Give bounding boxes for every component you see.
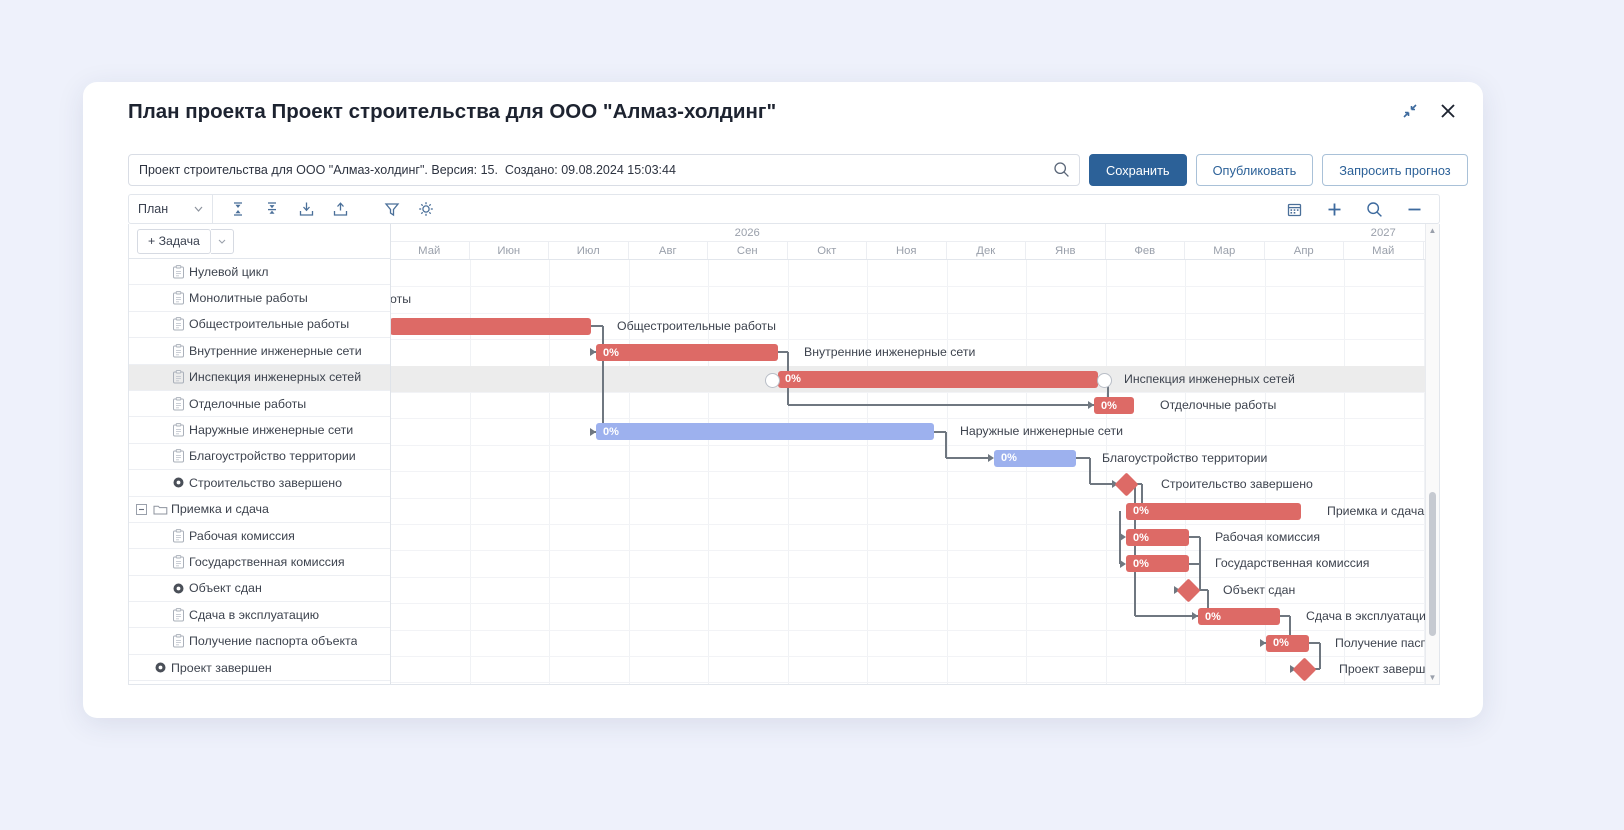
task-icon <box>167 344 189 358</box>
task-row[interactable]: Приемка и сдача <box>129 497 390 523</box>
grid-hline <box>390 682 1439 683</box>
task-rows: Нулевой циклМонолитные работыОбщестроите… <box>129 259 390 681</box>
grid-hline <box>390 471 1439 472</box>
timeline-body[interactable]: отыОбщестроительные работы0%Внутренние и… <box>390 260 1439 684</box>
task-icon <box>167 317 189 331</box>
expand-all-icon[interactable] <box>259 196 285 222</box>
view-select-value: План <box>138 202 168 216</box>
bar-label: Благоустройство территории <box>1102 451 1267 465</box>
page-title: План проекта Проект строительства для ОО… <box>128 100 776 124</box>
toolbar-right-icon-group <box>1281 196 1439 222</box>
task-row[interactable]: Рабочая комиссия <box>129 523 390 549</box>
bar-progress-label: 0% <box>778 373 801 385</box>
timeline-month: Мар <box>1185 242 1265 259</box>
dependency-link <box>1076 457 1090 459</box>
view-select[interactable]: План <box>129 195 213 223</box>
bar-drag-handle-left[interactable] <box>765 373 780 388</box>
gantt-grid: + Задача Нулевой циклМонолитные работыОб… <box>128 224 1440 685</box>
task-icon <box>167 370 189 384</box>
grid-hline <box>390 603 1439 604</box>
gantt-bar[interactable]: 0% <box>1126 555 1189 572</box>
task-row[interactable]: Строительство завершено <box>129 470 390 496</box>
modal-header: План проекта Проект строительства для ОО… <box>83 82 1483 148</box>
dependency-link <box>1090 483 1112 485</box>
settings-gear-icon[interactable] <box>413 196 439 222</box>
add-task-bar: + Задача <box>129 224 390 259</box>
grid-hline <box>390 286 1439 287</box>
milestone-marker[interactable] <box>1292 657 1316 681</box>
timeline-year-header: 20262027 <box>390 224 1439 242</box>
task-row[interactable]: Инспекция инженерных сетей <box>129 365 390 391</box>
timeline-year: 2026 <box>390 224 1106 241</box>
dependency-link <box>1135 615 1192 617</box>
task-row[interactable]: Объект сдан <box>129 576 390 602</box>
gantt-bar[interactable]: 0% <box>994 450 1076 467</box>
gantt-bar[interactable]: 0% <box>596 344 778 361</box>
timeline-month: Авг <box>629 242 709 259</box>
grid-hline <box>390 498 1439 499</box>
task-icon <box>167 608 189 622</box>
scrollbar-thumb[interactable] <box>1429 492 1436 636</box>
task-row[interactable]: Государственная комиссия <box>129 549 390 575</box>
bar-progress-label: 0% <box>994 452 1017 464</box>
bar-progress-label: 0% <box>1126 532 1149 544</box>
grid-hline <box>390 656 1439 657</box>
search-input[interactable] <box>129 157 1079 183</box>
grid-hline <box>390 445 1439 446</box>
timeline-month: Июл <box>549 242 629 259</box>
gantt-bar[interactable]: 0% <box>596 423 934 440</box>
grid-hline <box>390 339 1439 340</box>
publish-button[interactable]: Опубликовать <box>1196 154 1314 186</box>
collapse-diagonal-icon[interactable] <box>1399 100 1421 122</box>
timeline-year: 2027 <box>1106 224 1440 241</box>
dependency-link <box>1319 643 1321 669</box>
timeline-month: Июн <box>470 242 550 259</box>
task-row[interactable]: Отделочные работы <box>129 391 390 417</box>
milestone-marker[interactable] <box>1176 578 1200 602</box>
grid-hline <box>390 524 1439 525</box>
folder-icon <box>149 503 171 516</box>
task-icon <box>167 423 189 437</box>
task-icon <box>167 291 189 305</box>
task-name: Получение паспорта объекта <box>189 634 357 648</box>
task-name: Проект завершен <box>171 661 272 675</box>
bar-label: Получение паспор <box>1335 636 1439 650</box>
search-icon[interactable] <box>1361 196 1387 222</box>
gantt-bar[interactable]: 0% <box>1094 397 1134 414</box>
bar-progress-label: 0% <box>596 347 619 359</box>
task-name: Сдача в эксплуатацию <box>189 608 319 622</box>
grid-hline <box>390 313 1439 314</box>
task-name: Государственная комиссия <box>189 555 345 569</box>
task-row[interactable]: Сдача в эксплуатацию <box>129 602 390 628</box>
task-icon <box>167 265 189 279</box>
timeline-month: Апр <box>1265 242 1345 259</box>
project-plan-modal: План проекта Проект строительства для ОО… <box>83 82 1483 718</box>
zoom-out-minus-icon[interactable] <box>1401 196 1427 222</box>
gantt-bar[interactable] <box>390 318 591 335</box>
bar-drag-handle-right[interactable] <box>1097 373 1112 388</box>
bar-label: Государственная комиссия <box>1215 556 1369 570</box>
timeline-month: Май <box>1344 242 1424 259</box>
gantt-bar[interactable]: 0% <box>778 371 1098 388</box>
calendar-icon[interactable] <box>1281 196 1307 222</box>
bar-progress-label: 0% <box>1094 400 1117 412</box>
bar-progress-label: 0% <box>1266 637 1289 649</box>
bar-progress-label: 0% <box>1126 505 1149 517</box>
task-icon <box>167 449 189 463</box>
task-name: Монолитные работы <box>189 291 308 305</box>
import-icon[interactable] <box>293 196 319 222</box>
add-task-button[interactable]: + Задача <box>137 229 211 254</box>
task-name: Отделочные работы <box>189 397 306 411</box>
gantt-bar[interactable]: 0% <box>1198 608 1280 625</box>
zoom-in-plus-icon[interactable] <box>1321 196 1347 222</box>
gantt-bar[interactable]: 0% <box>1126 503 1301 520</box>
timeline-month: Дек <box>947 242 1027 259</box>
task-name: Объект сдан <box>189 581 262 595</box>
gantt-bar[interactable]: 0% <box>1266 635 1309 652</box>
task-name: Наружные инженерные сети <box>189 423 353 437</box>
close-icon[interactable] <box>1437 100 1459 122</box>
task-name: Внутренние инженерные сети <box>189 344 362 358</box>
vertical-scrollbar[interactable]: ▲ ▼ <box>1425 224 1439 684</box>
group-collapse-toggle[interactable] <box>133 504 149 515</box>
bar-progress-label: 0% <box>1198 611 1221 623</box>
task-icon <box>167 529 189 543</box>
dependency-link <box>945 432 947 458</box>
task-row[interactable]: Монолитные работы <box>129 285 390 311</box>
timeline-month: Фев <box>1106 242 1186 259</box>
timeline-month: Сен <box>708 242 788 259</box>
bar-label: Рабочая комиссия <box>1215 530 1320 544</box>
task-name: Общестроительные работы <box>189 317 349 331</box>
milestone-icon <box>149 661 171 674</box>
timeline-month: Окт <box>788 242 868 259</box>
scroll-up-arrow-icon[interactable]: ▲ <box>1426 224 1439 237</box>
task-name: Строительство завершено <box>189 476 342 490</box>
chevron-down-icon <box>194 206 203 212</box>
task-row[interactable]: Наружные инженерные сети <box>129 417 390 443</box>
search-and-actions-row: Сохранить Опубликовать Запросить прогноз <box>128 154 1440 184</box>
task-row[interactable]: Внутренние инженерные сети <box>129 338 390 364</box>
project-search-box[interactable] <box>128 154 1080 186</box>
dependency-link <box>1199 537 1201 563</box>
task-name: Благоустройство территории <box>189 449 356 463</box>
bar-label: Приемка и сдача <box>1327 504 1424 518</box>
export-icon[interactable] <box>327 196 353 222</box>
add-task-dropdown-caret[interactable] <box>211 229 234 254</box>
timeline-month-header: МайИюнИюлАвгСенОктНояДекЯнвФевМарАпрМай <box>390 242 1439 260</box>
chevron-down-icon <box>218 239 226 244</box>
bar-label: Объект сдан <box>1223 583 1295 597</box>
bar-label: Наружные инженерные сети <box>960 424 1123 438</box>
gantt-bar[interactable]: 0% <box>1126 529 1189 546</box>
bar-progress-label: 0% <box>596 426 619 438</box>
grid-hline <box>390 392 1439 393</box>
bar-label: оты <box>390 292 411 306</box>
task-row[interactable]: Получение паспорта объекта <box>129 628 390 654</box>
milestone-icon <box>167 582 189 595</box>
search-icon[interactable] <box>1053 161 1070 178</box>
task-icon <box>167 634 189 648</box>
dependency-link <box>788 404 1088 406</box>
gantt-toolbar: План <box>128 194 1440 224</box>
task-row[interactable]: Нулевой цикл <box>129 259 390 285</box>
timeline-month: Янв <box>1026 242 1106 259</box>
save-button[interactable]: Сохранить <box>1089 154 1187 186</box>
task-icon <box>167 397 189 411</box>
bar-label: Внутренние инженерные сети <box>804 345 975 359</box>
scroll-down-arrow-icon[interactable]: ▼ <box>1426 671 1439 684</box>
task-name: Нулевой цикл <box>189 265 269 279</box>
dependency-link <box>602 326 604 432</box>
header-actions <box>1399 100 1459 122</box>
task-icon <box>167 555 189 569</box>
bar-progress-label: 0% <box>1126 558 1149 570</box>
milestone-icon <box>167 476 189 489</box>
timeline-pane: 20262027 МайИюнИюлАвгСенОктНояДекЯнвФевМ… <box>390 224 1439 684</box>
dependency-link <box>1199 564 1201 590</box>
grid-hline <box>390 550 1439 551</box>
bar-label: Сдача в эксплуатацию <box>1306 609 1435 623</box>
task-row[interactable]: Благоустройство территории <box>129 444 390 470</box>
task-list-pane: + Задача Нулевой циклМонолитные работыОб… <box>129 224 391 684</box>
dependency-link <box>1089 458 1091 484</box>
bar-label: Общестроительные работы <box>617 319 776 333</box>
request-forecast-button[interactable]: Запросить прогноз <box>1322 154 1467 186</box>
task-row[interactable]: Общестроительные работы <box>129 312 390 338</box>
task-name: Приемка и сдача <box>171 502 269 516</box>
task-name: Инспекция инженерных сетей <box>189 370 361 384</box>
filter-icon[interactable] <box>379 196 405 222</box>
task-row[interactable]: Проект завершен <box>129 655 390 681</box>
grid-hline <box>390 577 1439 578</box>
dependency-link <box>946 457 988 459</box>
timeline-month: Ноя <box>867 242 947 259</box>
toolbar-icon-group <box>213 196 439 222</box>
bar-label: Проект заверш <box>1339 662 1425 676</box>
grid-hline <box>390 630 1439 631</box>
collapse-all-icon[interactable] <box>225 196 251 222</box>
bar-label: Строительство завершено <box>1161 477 1313 491</box>
bar-label: Отделочные работы <box>1160 398 1276 412</box>
grid-hline <box>390 418 1439 419</box>
bar-label: Инспекция инженерных сетей <box>1124 372 1295 386</box>
task-name: Рабочая комиссия <box>189 529 295 543</box>
timeline-month: Май <box>390 242 470 259</box>
